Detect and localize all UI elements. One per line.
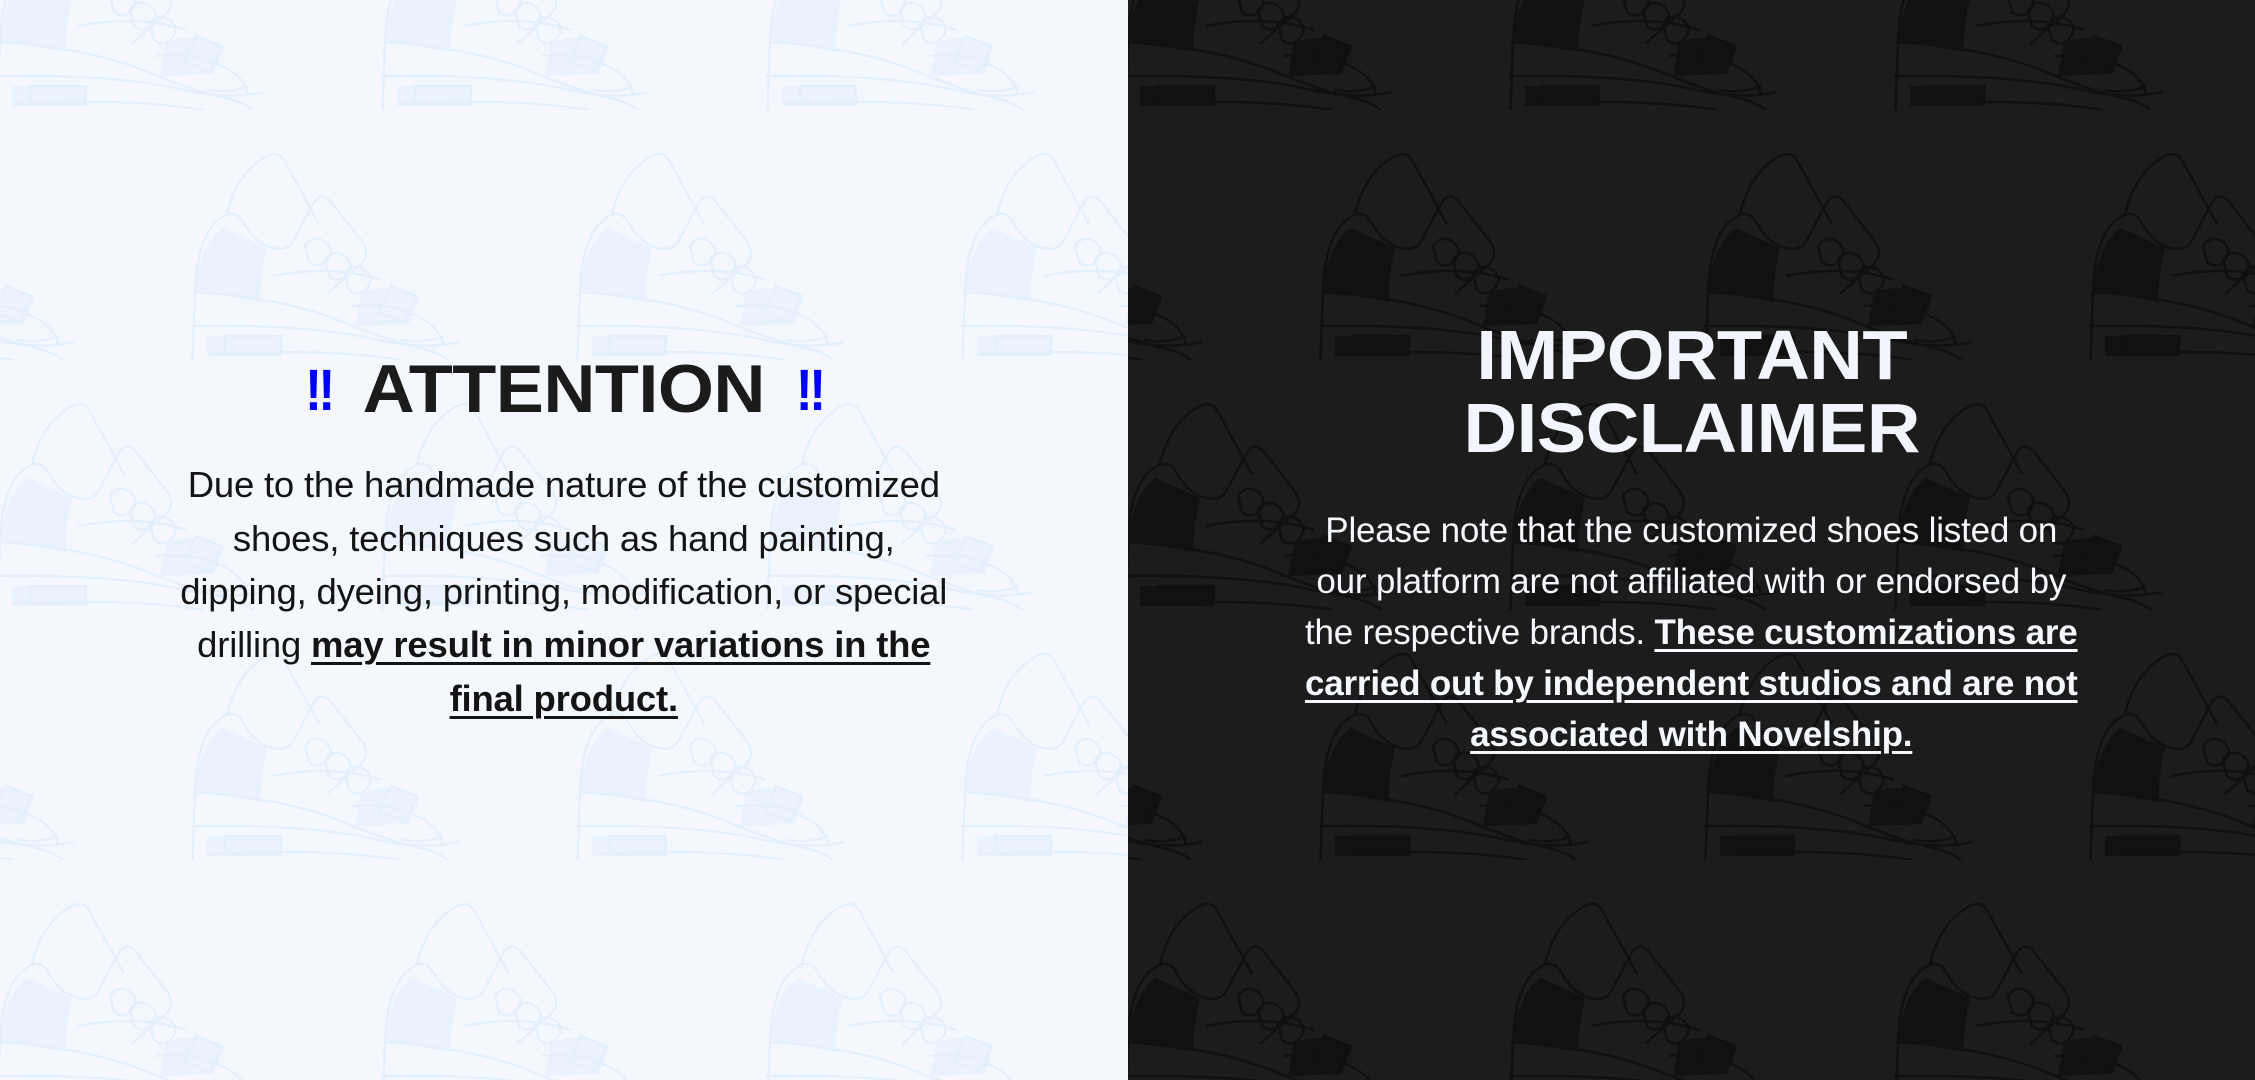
disclaimer-content: IMPORTANT DISCLAIMER Please note that th… <box>1128 319 2255 760</box>
attention-heading: !!ATTENTION!! <box>30 355 1098 424</box>
disclaimer-heading: IMPORTANT DISCLAIMER <box>1157 319 2225 465</box>
disclaimer-heading-line1: IMPORTANT <box>1476 316 1907 394</box>
disclaimer-body: Please note that the customized shoes li… <box>1296 505 2086 760</box>
disclaimer-panel: IMPORTANT DISCLAIMER Please note that th… <box>1128 0 2255 1080</box>
disclaimer-heading-line2: DISCLAIMER <box>1463 389 1919 467</box>
attention-body-emphasis: may result in minor variations in the fi… <box>311 624 930 718</box>
attention-panel: !!ATTENTION!! Due to the handmade nature… <box>0 0 1128 1080</box>
double-exclamation-icon-left: !! <box>305 361 332 420</box>
attention-body: Due to the handmade nature of the custom… <box>169 458 959 724</box>
attention-heading-word: ATTENTION <box>363 351 765 427</box>
double-exclamation-icon-right: !! <box>795 361 822 420</box>
attention-content: !!ATTENTION!! Due to the handmade nature… <box>0 355 1128 725</box>
